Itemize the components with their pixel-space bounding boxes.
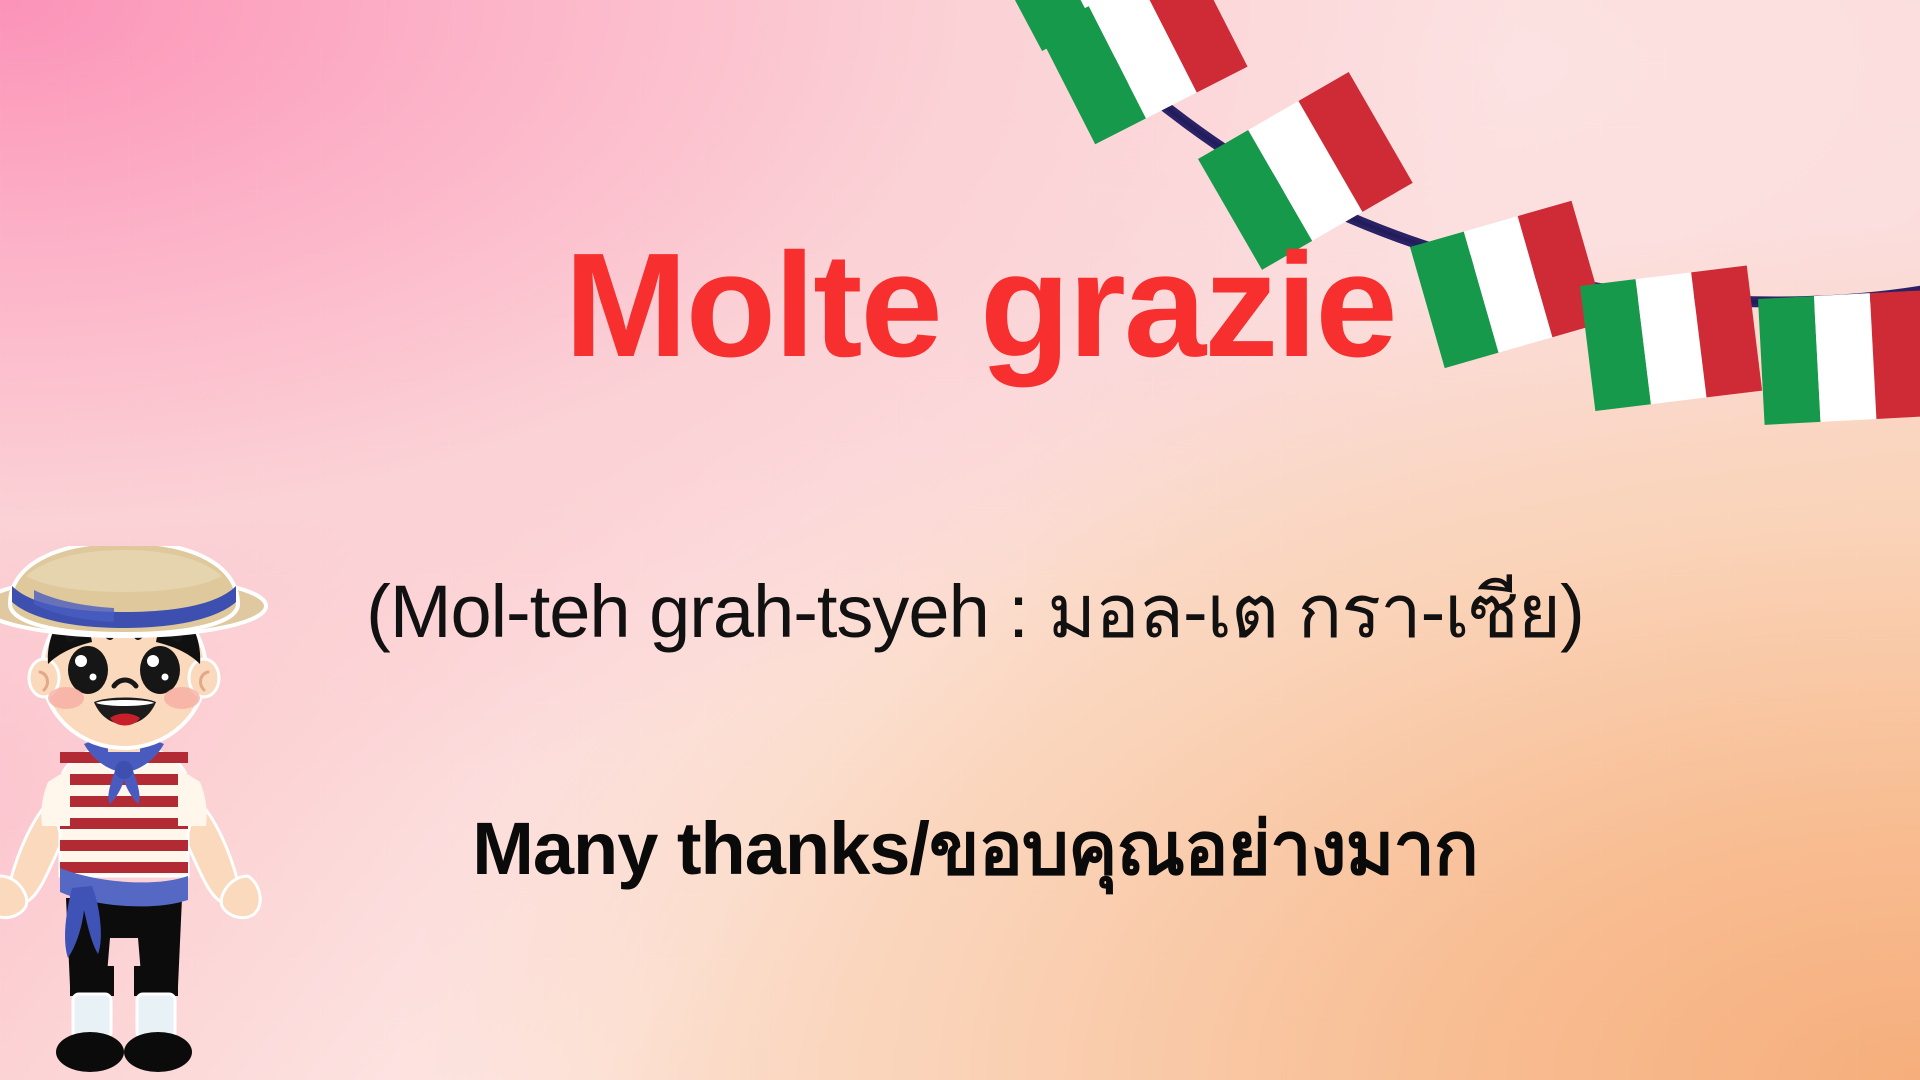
- slide-canvas: Molte grazie (Mol-teh grah-tsyeh : มอล-เ…: [0, 0, 1920, 1080]
- pronunciation-line: (Mol-teh grah-tsyeh : มอล-เต กรา-เซีย): [0, 575, 1920, 649]
- phrase-title: Molte grazie: [0, 232, 1920, 380]
- meaning-line: Many thanks/ขอบคุณอย่างมาก: [0, 812, 1920, 886]
- text-block: Molte grazie (Mol-teh grah-tsyeh : มอล-เ…: [0, 0, 1920, 1080]
